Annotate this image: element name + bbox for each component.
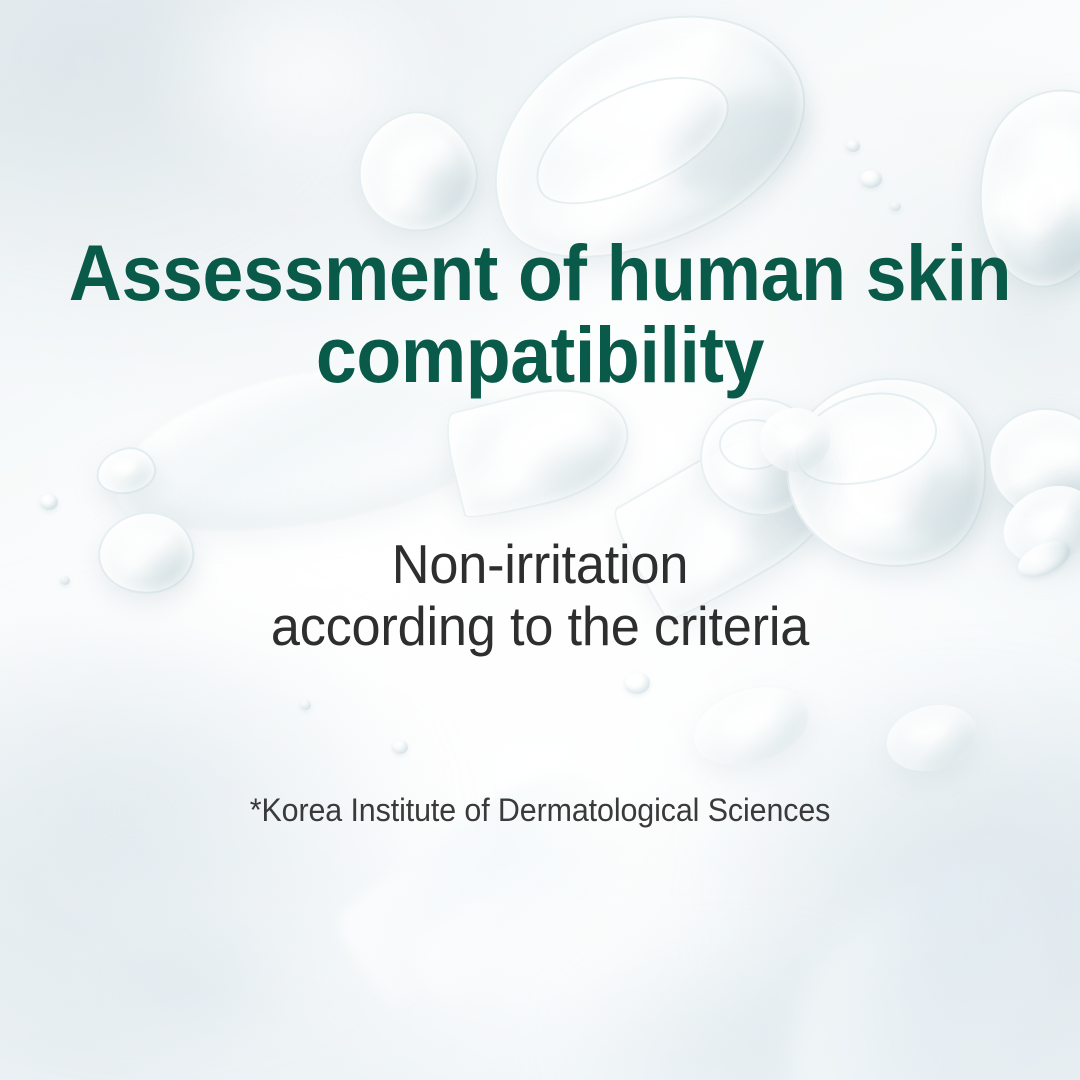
page-title: Assessment of human skin compatibility bbox=[38, 232, 1042, 396]
marketing-graphic-canvas: Assessment of human skin compatibility N… bbox=[0, 0, 1080, 1080]
text-content: Assessment of human skin compatibility N… bbox=[0, 0, 1080, 1080]
subtitle-text: Non-irritation according to the criteria bbox=[27, 533, 1053, 657]
footnote-source: *Korea Institute of Dermatological Scien… bbox=[27, 791, 1053, 829]
